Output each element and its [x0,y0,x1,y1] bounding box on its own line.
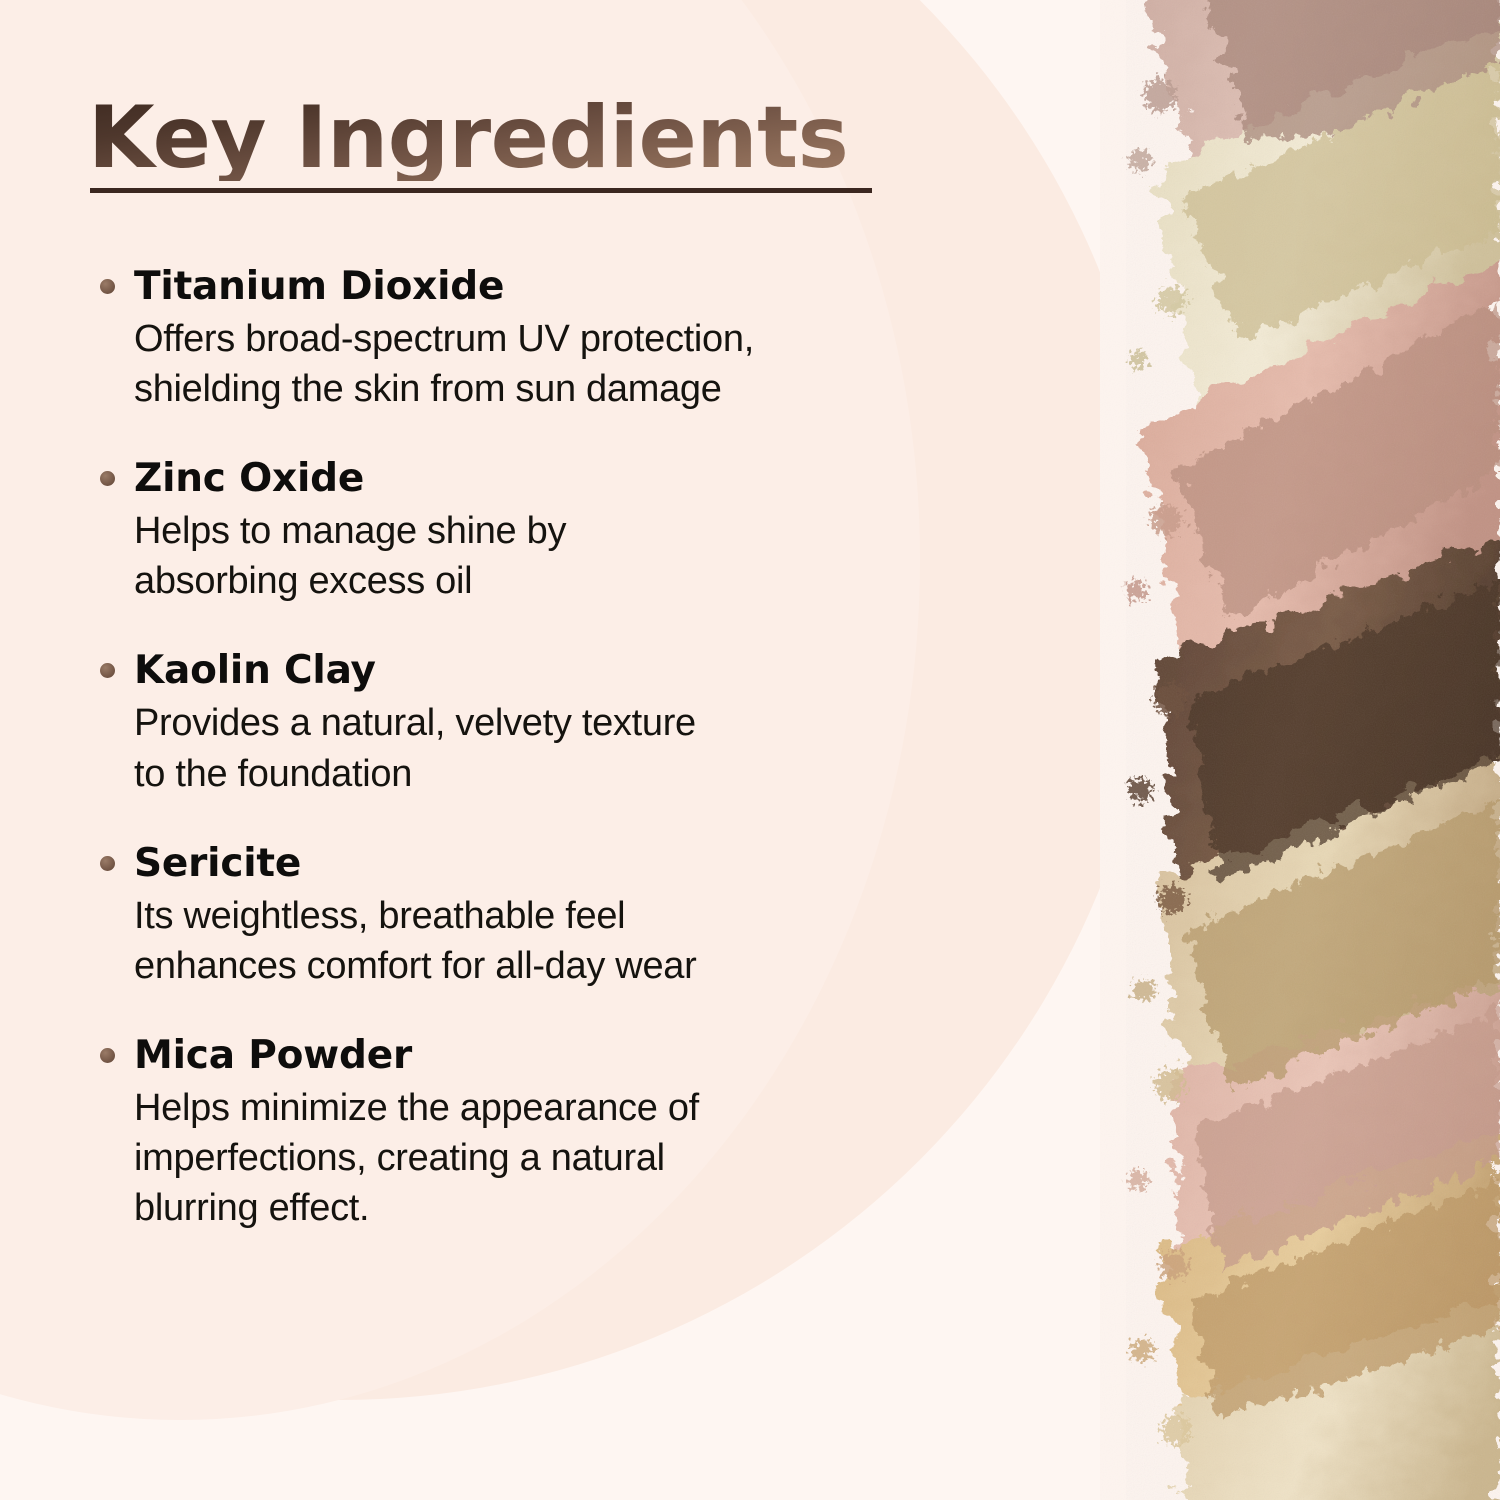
ingredients-infographic: Key Ingredients Titanium Dioxide Offers … [0,0,1500,1500]
bullet-dot-icon [100,663,115,678]
ingredient-description: Its weightless, breathable feel enhances… [134,891,988,991]
ingredient-name: Zinc Oxide [134,454,988,504]
bullet-dot-icon [100,856,115,871]
ingredient-name: Kaolin Clay [134,646,988,696]
ingredient-list: Titanium Dioxide Offers broad-spectrum U… [88,262,988,1233]
ingredient-name: Titanium Dioxide [134,262,988,312]
list-item: Zinc Oxide Helps to manage shine by abso… [88,454,988,606]
ingredient-name: Sericite [134,839,988,889]
bullet-dot-icon [100,1048,115,1063]
ingredient-name: Mica Powder [134,1031,988,1081]
list-item: Kaolin Clay Provides a natural, velvety … [88,646,988,798]
ingredient-description: Offers broad-spectrum UV protection, shi… [134,314,988,414]
page-title-wrapper: Key Ingredients [88,95,888,181]
ingredient-description: Helps to manage shine by absorbing exces… [134,506,988,606]
ingredient-description: Helps minimize the appearance of imperfe… [134,1083,988,1233]
content-column: Key Ingredients Titanium Dioxide Offers … [0,0,1060,1500]
list-item: Sericite Its weightless, breathable feel… [88,839,988,991]
powder-swatch-illustration [1100,0,1500,1500]
list-item: Mica Powder Helps minimize the appearanc… [88,1031,988,1233]
bullet-dot-icon [100,279,115,294]
powder-swatch-photo [1100,0,1500,1500]
bullet-dot-icon [100,471,115,486]
list-item: Titanium Dioxide Offers broad-spectrum U… [88,262,988,414]
title-underline [90,188,872,193]
page-title: Key Ingredients [88,95,888,181]
ingredient-description: Provides a natural, velvety texture to t… [134,698,988,798]
